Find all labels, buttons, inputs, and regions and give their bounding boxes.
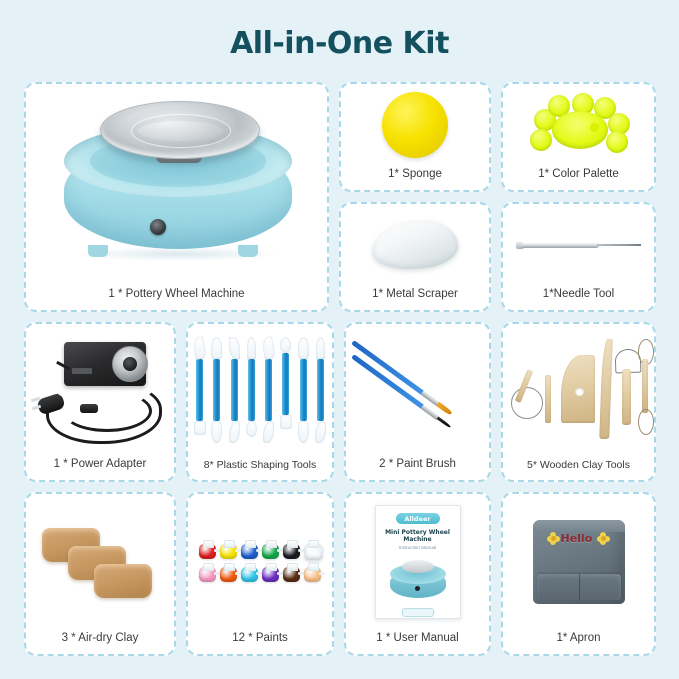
paint-pot-brown [283, 565, 300, 582]
adapter-speed-dial [112, 346, 148, 382]
paint-pot-pink [199, 565, 216, 582]
kit-item-caption: 1 * User Manual [344, 630, 491, 654]
kit-item-plastic-tools: 8* Plastic Shaping Tools [186, 322, 334, 482]
brush-handle [351, 354, 425, 410]
wheel-turntable-disc [100, 101, 260, 159]
tool-tip [246, 421, 257, 437]
tool-tip [211, 421, 222, 443]
tool-tip [280, 415, 292, 429]
double-loop-bottom [638, 409, 654, 435]
palette-well [530, 129, 552, 151]
brush-bristles [436, 417, 451, 429]
paint-pot-link [277, 572, 283, 575]
apron-top-band [533, 520, 625, 532]
needle-handle [521, 243, 599, 248]
paint-pot-lid [287, 540, 298, 548]
rib-hanging-hole [575, 387, 584, 396]
paint-pot-lid [308, 540, 319, 548]
manual-title: Mini Pottery Wheel Machine [376, 529, 460, 543]
flower-icon [597, 532, 610, 545]
kit-contents-grid: 1 * Pottery Wheel Machine 1* Sponge [24, 82, 656, 656]
double-loop-handle [642, 359, 648, 413]
tool-shaft [196, 359, 203, 421]
tool-shaft [231, 359, 238, 421]
needle-tool-illustration [503, 204, 654, 286]
paint-pot-lid [203, 540, 214, 548]
product-infographic: All-in-One Kit 1 * Pottery Wheel Machine [0, 0, 679, 679]
brush-bristles [436, 402, 453, 416]
color-palette-illustration [503, 84, 654, 166]
paint-pot-link [256, 549, 262, 552]
kit-item-color-palette: 1* Color Palette [501, 82, 656, 192]
plastic-tool [211, 337, 222, 445]
manual-cover-product-image [388, 558, 448, 602]
sponge-illustration [341, 84, 489, 166]
kit-item-user-manual: Alldeer Mini Pottery Wheel Machine Instr… [344, 492, 491, 656]
tool-tip [280, 337, 291, 353]
kit-item-caption: 3 * Air-dry Clay [24, 630, 176, 654]
adapter-cord-loop-inner [62, 390, 152, 432]
manual-wheel-port [415, 586, 420, 591]
tool-shaft [300, 359, 307, 421]
tool-shaft [213, 359, 220, 421]
palette-mixing-area [552, 111, 608, 149]
scraper-rib-icon [370, 218, 459, 272]
tool-tip [315, 421, 326, 443]
kit-item-caption: 2 * Paint Brush [344, 456, 491, 480]
tool-shaft [317, 359, 324, 421]
kit-item-sponge: 1* Sponge [339, 82, 491, 192]
pottery-wheel-illustration [26, 84, 327, 286]
paint-pot-grid [198, 542, 322, 582]
tool-tip [229, 337, 240, 359]
paint-pot-link [277, 549, 283, 552]
wooden-knife-tool [599, 339, 612, 439]
kit-item-apron: Hello 1* Apron [501, 492, 656, 656]
kit-item-paints: 12 * Paints [186, 492, 334, 656]
palette-well [606, 131, 628, 153]
kit-item-air-dry-clay: 3 * Air-dry Clay [24, 492, 176, 656]
page-title: All-in-One Kit [0, 0, 679, 71]
plastic-tool [194, 337, 205, 445]
kit-item-needle-tool: 1*Needle Tool [501, 202, 656, 312]
paint-pot-blue [241, 542, 258, 559]
paint-pot-white [304, 542, 321, 559]
adapter-label [72, 368, 92, 374]
paint-pot-purple [262, 565, 279, 582]
tool-shaft [282, 353, 289, 415]
paint-pot-lid [287, 563, 298, 571]
clay-illustration [26, 494, 174, 630]
paint-pot-cyan [241, 565, 258, 582]
paint-pot-lid [266, 563, 277, 571]
paint-pot-link [298, 572, 304, 575]
paint-pot-lid [224, 563, 235, 571]
paint-pot-lid [245, 540, 256, 548]
adapter-dc-connector [80, 404, 98, 413]
kit-item-pottery-wheel: 1 * Pottery Wheel Machine [24, 82, 329, 312]
manual-wheel-disc [402, 560, 434, 573]
paint-pot-green [262, 542, 279, 559]
paint-pot-link [298, 549, 304, 552]
paint-pot-lid [308, 563, 319, 571]
user-manual-illustration: Alldeer Mini Pottery Wheel Machine Instr… [346, 494, 489, 630]
kit-item-paint-brush: 2 * Paint Brush [344, 322, 491, 482]
kit-item-caption: 1* Sponge [339, 166, 491, 190]
tool-tip [263, 421, 274, 443]
plastic-tool [298, 337, 309, 445]
tool-tip [229, 421, 240, 443]
plastic-tools-illustration [188, 324, 332, 457]
paint-pot-link [319, 572, 325, 575]
wheel-power-port [150, 219, 166, 235]
tool-tip [194, 421, 206, 435]
kit-item-caption: 1*Needle Tool [501, 286, 656, 310]
tool-tip [247, 337, 256, 359]
wooden-tools-illustration [503, 324, 654, 457]
kit-item-caption: 1* Color Palette [501, 166, 656, 190]
tool-shaft [265, 359, 272, 421]
paint-pot-lid [266, 540, 277, 548]
flower-icon [547, 532, 560, 545]
paint-pot-peach [304, 565, 321, 582]
needle-point [597, 244, 641, 246]
kit-item-caption: 12 * Paints [186, 630, 334, 654]
kit-item-wooden-tools: 5* Wooden Clay Tools [501, 322, 656, 482]
paint-pot-link [256, 572, 262, 575]
tool-tip [298, 337, 309, 359]
plastic-tool [229, 337, 240, 445]
manual-brand-badge: Alldeer [396, 513, 440, 524]
kit-item-metal-scraper: 1* Metal Scraper [339, 202, 491, 312]
apron-pocket-divider [579, 574, 581, 600]
manual-model-box [402, 608, 434, 617]
paints-illustration [188, 494, 332, 630]
paint-pot-orange [220, 565, 237, 582]
kit-item-caption: 1* Apron [501, 630, 656, 654]
paint-pot-link [214, 549, 220, 552]
paint-pot-lid [245, 563, 256, 571]
paint-brush-illustration [346, 324, 489, 456]
paint-pot-link [214, 572, 220, 575]
kit-item-power-adapter: 1 * Power Adapter [24, 322, 176, 482]
paint-pot-lid [224, 540, 235, 548]
plastic-tool [263, 337, 274, 445]
brush-handle [351, 340, 425, 396]
wheel-foot-right [238, 245, 258, 257]
paint-pot-yellow [220, 542, 237, 559]
tool-tip [211, 337, 222, 359]
kit-item-caption: 5* Wooden Clay Tools [501, 457, 656, 480]
clay-block [94, 564, 152, 598]
round-sponge-icon [382, 92, 448, 158]
manual-booklet: Alldeer Mini Pottery Wheel Machine Instr… [375, 505, 461, 619]
plastic-tool [280, 337, 291, 445]
tool-tip [298, 421, 309, 443]
apron-hello-text: Hello [561, 532, 593, 545]
wire-loop-ring [511, 387, 543, 419]
kit-item-caption: 1* Metal Scraper [339, 286, 491, 310]
palette-thumb-hole [590, 123, 599, 132]
power-adapter-illustration [26, 324, 174, 456]
plastic-tool [246, 337, 257, 445]
wooden-stick-tool [545, 375, 551, 423]
kit-item-caption: 8* Plastic Shaping Tools [186, 457, 334, 480]
metal-scraper-illustration [341, 204, 489, 286]
paint-pot-lid [203, 563, 214, 571]
kit-item-caption: 1 * Power Adapter [24, 456, 176, 480]
tool-tip [261, 336, 276, 360]
kit-item-caption: 1 * Pottery Wheel Machine [24, 286, 329, 310]
plastic-tool [315, 337, 326, 445]
paint-pot-link [235, 549, 241, 552]
apron-illustration: Hello [503, 494, 654, 630]
tool-tip [192, 336, 207, 360]
tool-tip [316, 337, 325, 359]
tool-shaft [248, 359, 255, 421]
manual-subtitle: Instruction Manual [376, 545, 460, 550]
paint-pot-link [235, 572, 241, 575]
paint-pot-link [319, 549, 325, 552]
paint-pot-black [283, 542, 300, 559]
wheel-foot-left [88, 245, 108, 257]
triangle-tool-handle [622, 369, 631, 425]
paint-pot-red [199, 542, 216, 559]
